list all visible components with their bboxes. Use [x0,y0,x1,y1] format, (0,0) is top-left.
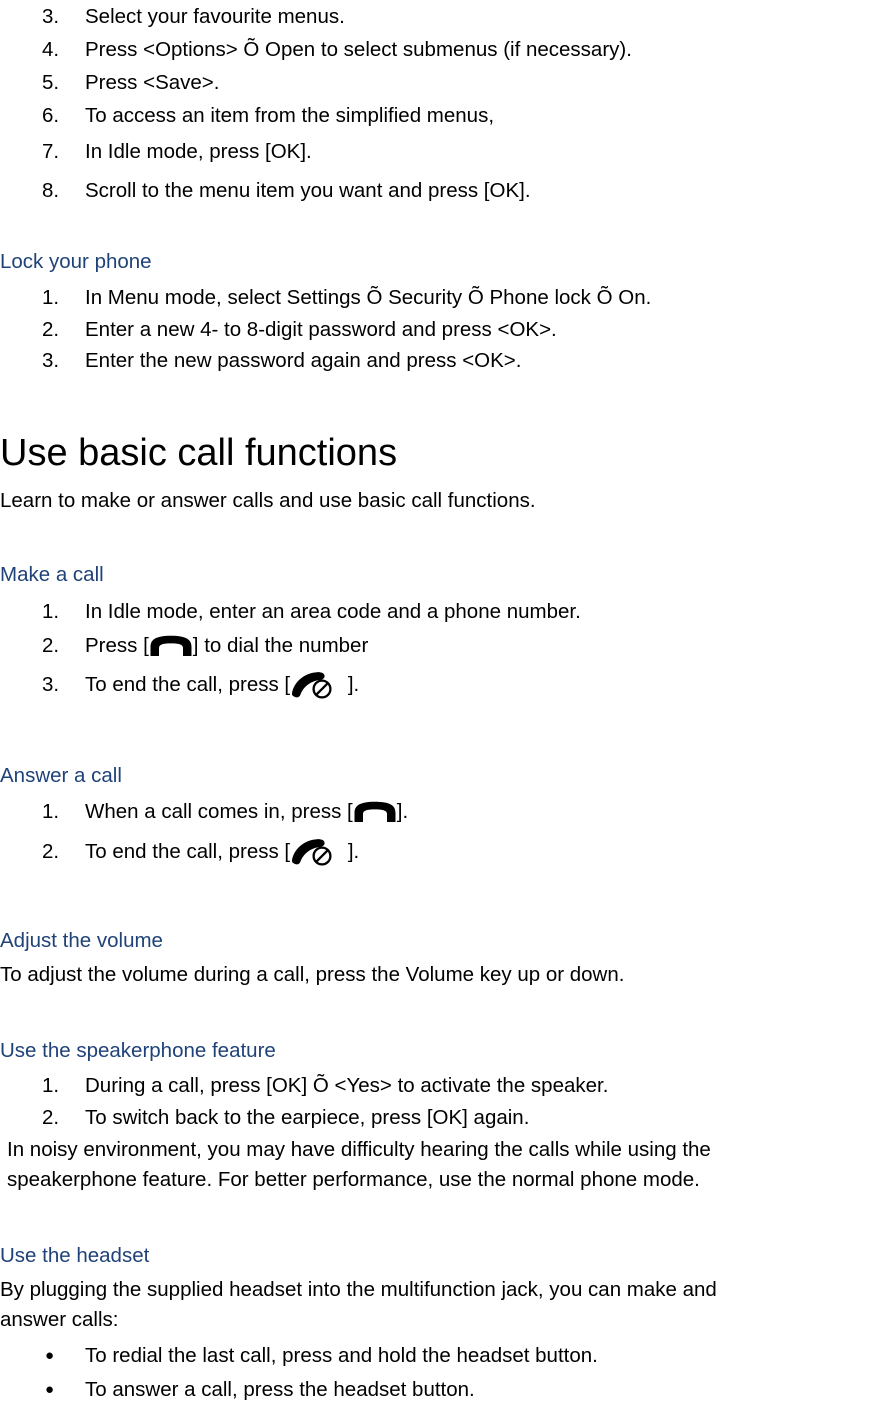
list-text: To end the call, press [ [85,673,290,696]
list-marker: 2. [42,314,82,345]
headset-bullet-list: ● To redial the last call, press and hol… [0,1339,598,1407]
list-text-after: ]. [342,673,359,696]
top-numbered-list: 3. Select your favourite menus. 4. Press… [0,0,632,210]
list-item: 2. Enter a new 4- to 8-digit password an… [0,314,651,345]
list-item: ● To answer a call, press the headset bu… [0,1373,598,1407]
list-marker: 2. [42,830,82,874]
section-heading-use-the-headset: Use the headset [0,1243,149,1269]
list-text: Select your favourite menus. [85,5,345,28]
list-text: Press <Save>. [85,71,219,94]
list-marker: 4. [42,33,82,66]
list-text-after: ] to dial the number [193,634,369,657]
list-item: 1. During a call, press [OK] Õ <Yes> to … [0,1070,608,1102]
headset-body-line-2: answer calls: [0,1305,717,1335]
list-item: 4. Press <Options> Õ Open to select subm… [0,33,632,66]
list-text: Enter the new password again and press <… [85,349,521,372]
section-heading-lock-your-phone: Lock your phone [0,249,152,275]
list-item: 1. In Menu mode, select Settings Õ Secur… [0,281,651,314]
section-heading-use-the-speakerphone-feature: Use the speakerphone feature [0,1038,276,1064]
list-marker: 1. [42,595,82,628]
section-heading-adjust-the-volume: Adjust the volume [0,928,163,954]
list-item: 2. To end the call, press [ ]. [0,830,408,874]
speakerphone-list: 1. During a call, press [OK] Õ <Yes> to … [0,1070,608,1133]
dial-key-icon [353,801,397,823]
list-text: To answer a call, press the headset butt… [85,1378,475,1401]
list-item: 6. To access an item from the simplified… [0,99,632,132]
list-item: 1. When a call comes in, press []. [0,793,408,830]
list-marker: 1. [42,281,82,314]
bullet-icon: ● [45,1339,54,1373]
list-marker: 6. [42,99,82,132]
list-text: Enter a new 4- to 8-digit password and p… [85,318,557,341]
list-item: 3. Enter the new password again and pres… [0,345,651,376]
page-intro-text: Learn to make or answer calls and use ba… [0,487,536,515]
list-marker: 2. [42,1102,82,1133]
list-marker: 2. [42,628,82,663]
headset-body-line-1: By plugging the supplied headset into th… [0,1275,717,1305]
list-marker: 7. [42,132,82,172]
list-item: 3. To end the call, press [ ]. [0,663,581,707]
list-text: To end the call, press [ [85,840,290,863]
dial-key-icon [149,635,193,657]
make-a-call-list: 1. In Idle mode, enter an area code and … [0,595,581,707]
list-text: In Menu mode, select Settings Õ Security… [85,286,651,309]
list-text: During a call, press [OK] Õ <Yes> to act… [85,1074,608,1097]
list-text: When a call comes in, press [ [85,800,353,823]
list-text: Scroll to the menu item you want and pre… [85,179,531,202]
list-text: In Idle mode, enter an area code and a p… [85,600,581,623]
bullet-icon: ● [45,1373,54,1407]
list-item: 7. In Idle mode, press [OK]. [0,132,632,172]
list-text: Press <Options> Õ Open to select submenu… [85,38,632,61]
page-title: Use basic call functions [0,430,397,476]
list-text-after: ]. [397,800,408,823]
end-call-key-icon [290,837,342,867]
list-text: To switch back to the earpiece, press [O… [85,1106,529,1129]
list-text: In Idle mode, press [OK]. [85,140,312,163]
list-marker: 1. [42,1070,82,1102]
list-item: 5. Press <Save>. [0,66,632,99]
list-item: 1. In Idle mode, enter an area code and … [0,595,581,628]
list-marker: 1. [42,793,82,830]
answer-a-call-list: 1. When a call comes in, press []. 2. To… [0,793,408,874]
list-marker: 5. [42,66,82,99]
manual-page: 3. Select your favourite menus. 4. Press… [0,0,872,1403]
list-item: 2. To switch back to the earpiece, press… [0,1102,608,1133]
list-text: To redial the last call, press and hold … [85,1344,598,1367]
list-marker: 8. [42,172,82,210]
adjust-volume-body: To adjust the volume during a call, pres… [0,961,624,989]
end-call-key-icon [290,670,342,700]
list-marker: 3. [42,663,82,707]
list-text-after: ]. [342,840,359,863]
list-item: ● To redial the last call, press and hol… [0,1339,598,1373]
list-marker: 3. [42,0,82,33]
list-text: Press [ [85,634,149,657]
note-line-2: speakerphone feature. For better perform… [7,1165,711,1195]
list-item: 8. Scroll to the menu item you want and … [0,172,632,210]
list-item: 3. Select your favourite menus. [0,0,632,33]
lock-phone-list: 1. In Menu mode, select Settings Õ Secur… [0,281,651,376]
section-heading-make-a-call: Make a call [0,562,104,588]
headset-body: By plugging the supplied headset into th… [0,1275,717,1335]
speakerphone-note: In noisy environment, you may have diffi… [7,1135,711,1195]
note-line-1: In noisy environment, you may have diffi… [7,1135,711,1165]
section-heading-answer-a-call: Answer a call [0,763,122,789]
list-text: To access an item from the simplified me… [85,104,494,127]
list-item: 2. Press [] to dial the number [0,628,581,663]
list-marker: 3. [42,345,82,376]
